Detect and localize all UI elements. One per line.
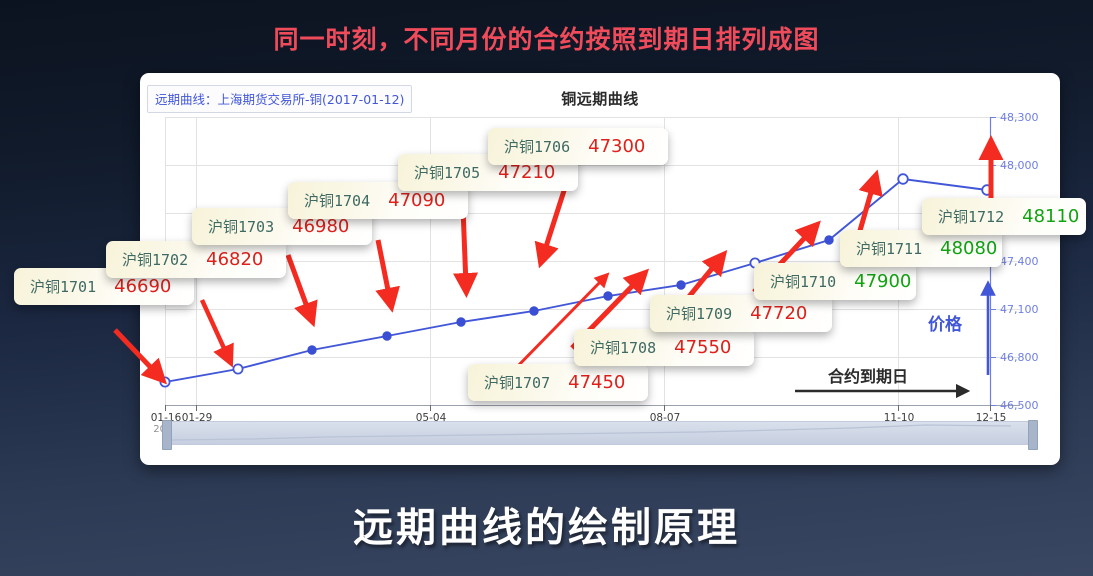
- contract-name: 沪铜1710: [770, 271, 836, 292]
- page-headline: 同一时刻，不同月份的合约按照到期日排列成图: [0, 20, 1093, 56]
- data-zoom-handle-right[interactable]: [1028, 420, 1038, 450]
- contract-label-1706[interactable]: 沪铜1706 47300: [488, 128, 668, 165]
- data-zoom-slider[interactable]: [165, 421, 1035, 445]
- y-tick-label: 46,800: [1000, 351, 1039, 364]
- contract-value: 47720: [750, 303, 807, 324]
- contract-name: 沪铜1701: [30, 276, 96, 297]
- contract-value: 47300: [588, 136, 645, 157]
- y-tick-label: 47,100: [1000, 303, 1039, 316]
- contract-value: 46980: [292, 216, 349, 237]
- contract-name: 沪铜1708: [590, 337, 656, 358]
- contract-value: 47210: [498, 162, 555, 183]
- contract-name: 沪铜1702: [122, 249, 188, 270]
- contract-name: 沪铜1709: [666, 303, 732, 324]
- contract-value: 47090: [388, 190, 445, 211]
- contract-name: 沪铜1703: [208, 216, 274, 237]
- data-zoom-preview: [166, 422, 1034, 444]
- contract-name: 沪铜1704: [304, 190, 370, 211]
- contract-label-1707[interactable]: 沪铜1707 47450: [468, 364, 648, 401]
- contract-value: 46820: [206, 249, 263, 270]
- y-tick-label: 48,300: [1000, 111, 1039, 124]
- contract-label-1712[interactable]: 沪铜1712 48110: [922, 198, 1086, 235]
- y-tick-label: 48,000: [1000, 159, 1039, 172]
- expiry-axis-annotation: 合约到期日: [828, 363, 908, 387]
- contract-name: 沪铜1705: [414, 162, 480, 183]
- contract-name: 沪铜1711: [856, 238, 922, 259]
- contract-label-1702[interactable]: 沪铜1702 46820: [106, 241, 286, 278]
- contract-name: 沪铜1707: [484, 372, 550, 393]
- data-zoom-handle-left[interactable]: [162, 420, 172, 450]
- page-footer-title: 远期曲线的绘制原理: [0, 495, 1093, 553]
- y-tick-label: 46,500: [1000, 399, 1039, 412]
- price-axis-annotation: 价格: [928, 310, 962, 335]
- contract-name: 沪铜1712: [938, 206, 1004, 227]
- contract-label-1708[interactable]: 沪铜1708 47550: [574, 329, 754, 366]
- contract-value: 47550: [674, 337, 731, 358]
- contract-label-1710[interactable]: 沪铜1710 47900: [754, 263, 916, 300]
- contract-label-1709[interactable]: 沪铜1709 47720: [650, 295, 832, 332]
- contract-value: 48080: [940, 238, 997, 259]
- y-tick-label: 47,400: [1000, 255, 1039, 268]
- contract-label-1711[interactable]: 沪铜1711 48080: [840, 230, 1002, 267]
- contract-value: 48110: [1022, 206, 1079, 227]
- contract-value: 47900: [854, 271, 911, 292]
- contract-name: 沪铜1706: [504, 136, 570, 157]
- contract-value: 46690: [114, 276, 171, 297]
- contract-value: 47450: [568, 372, 625, 393]
